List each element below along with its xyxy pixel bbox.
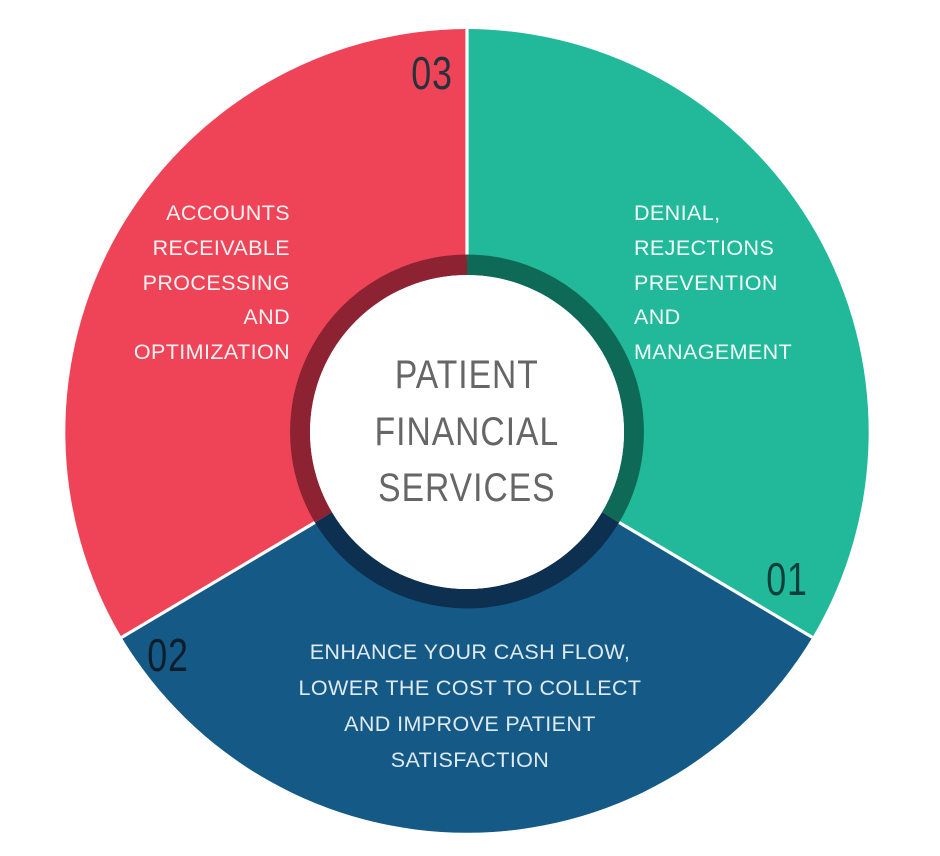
diagram-canvas: DENIAL, REJECTIONS PREVENTION AND MANAGE… <box>0 0 940 856</box>
hub-disc <box>310 275 624 589</box>
donut-chart <box>0 0 940 856</box>
